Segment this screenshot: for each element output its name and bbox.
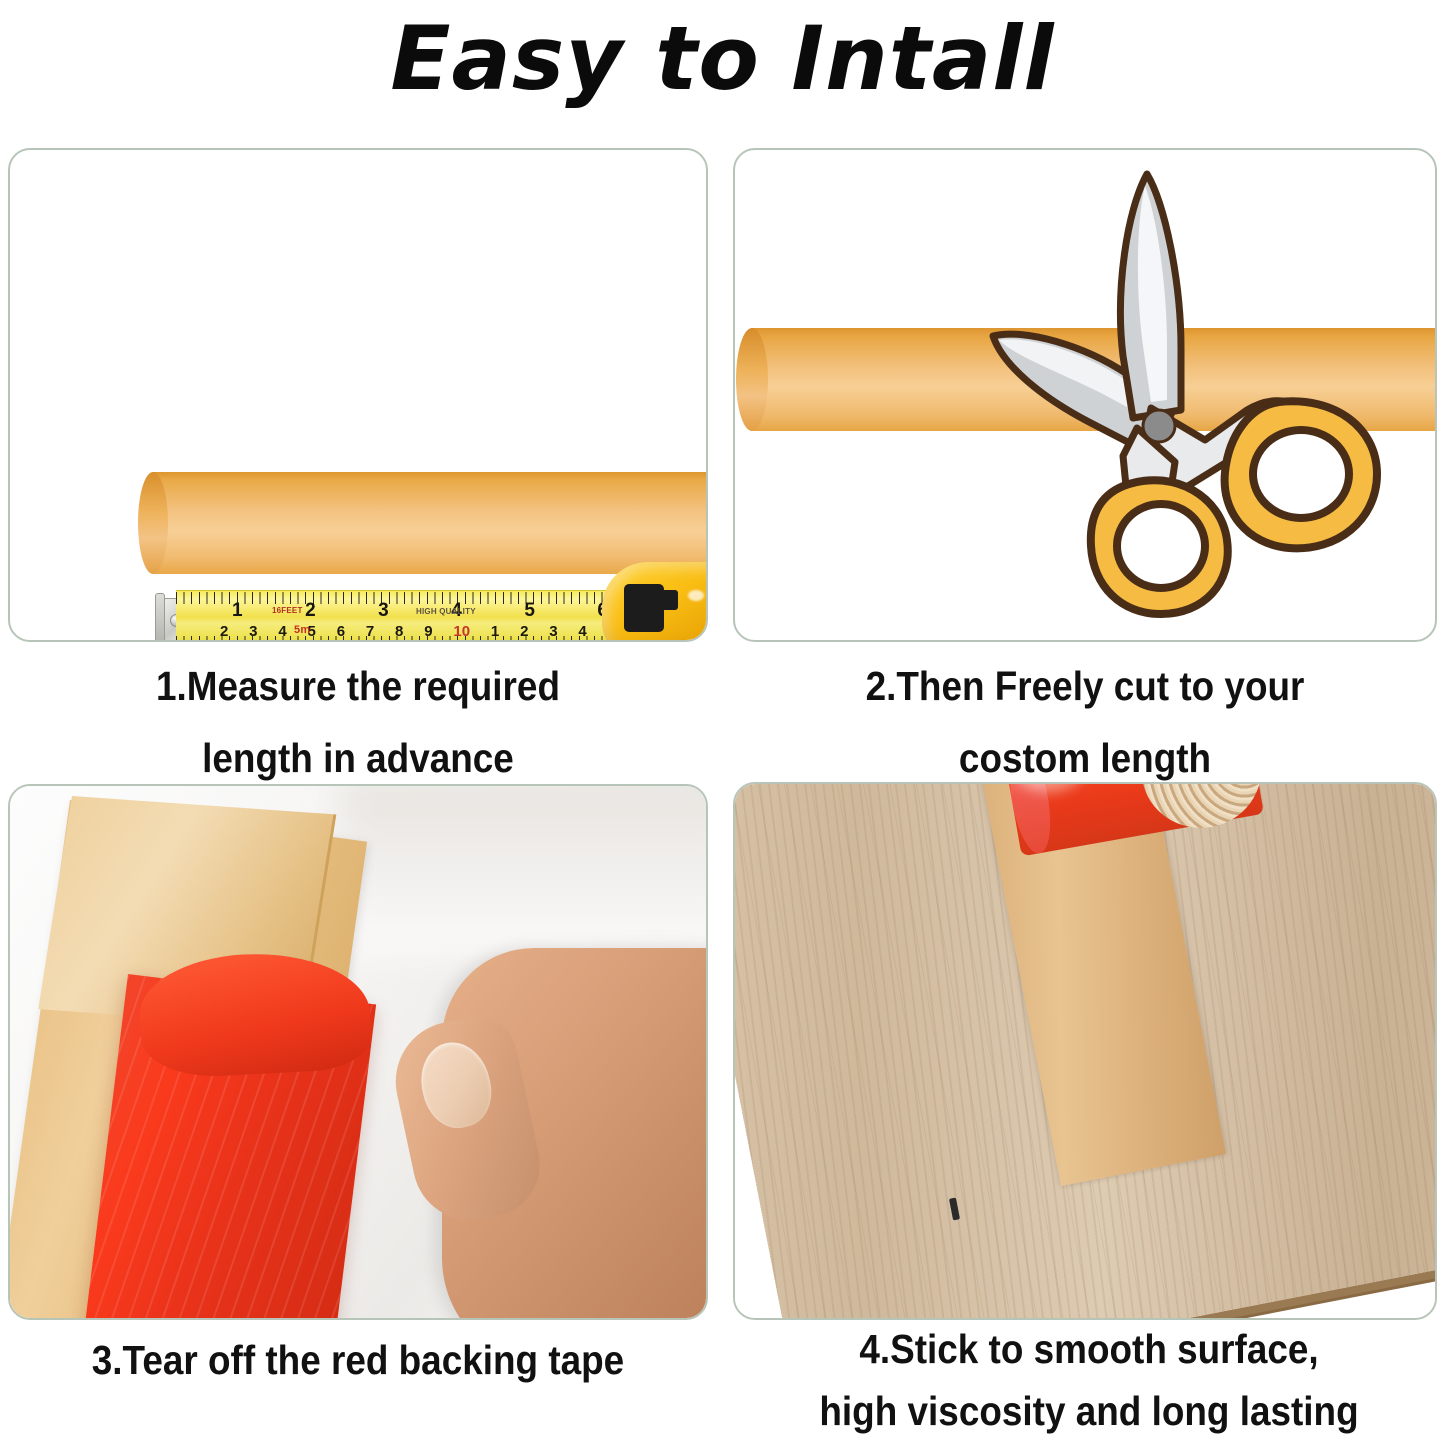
step-4-caption: 4.Stick to smooth surface, high viscosit… [769, 1318, 1410, 1442]
blade-imperial-number: 5 [524, 600, 535, 622]
blade-metric-number: 7 [366, 623, 374, 640]
blade-imperial-number: 3 [378, 600, 389, 622]
blade-imperial-number: 2 [305, 600, 316, 622]
blade-metric-number: 2 [520, 623, 528, 640]
tape-measure-case [602, 562, 708, 642]
blade-label-feet: 16FEET [272, 606, 303, 615]
blade-imperial-number: 1 [232, 600, 243, 622]
tape-measure-blade: 1 2 3 4 5 6 2 3 4 5 6 7 8 9 10 1 2 3 4 5… [176, 590, 616, 642]
blade-metric-number: 2 [220, 623, 228, 640]
blade-metric-number: 6 [337, 623, 345, 640]
blade-metric-number: 8 [395, 623, 403, 640]
photo-background-blur [340, 784, 708, 956]
blade-metric-number: 3 [549, 623, 557, 640]
step-3-image-panel [8, 784, 708, 1320]
blade-metric-number: 4 [278, 623, 286, 640]
blade-metric-number: 1 [491, 623, 499, 640]
blade-metric-number: 9 [424, 623, 432, 640]
lock-button-icon [624, 584, 664, 632]
step-4-image-panel [733, 782, 1437, 1320]
page-title: Easy to Intall [0, 4, 1445, 114]
step-3-caption: 3.Tear off the red backing tape [36, 1330, 680, 1390]
blade-metric-number: 3 [249, 623, 257, 640]
step-1-caption: 1.Measure the required length in advance [43, 650, 673, 794]
blade-metric-number: 4 [578, 623, 586, 640]
blade-label-metric: 5m [294, 624, 310, 636]
blade-metric-numbers: 2 3 4 5 6 7 8 9 10 1 2 3 4 5 [220, 621, 616, 641]
scissors-icon [875, 160, 1395, 640]
blade-metric-number-decimeter: 10 [453, 623, 470, 640]
step-1-image-panel: 1 2 3 4 5 6 2 3 4 5 6 7 8 9 10 1 2 3 4 5… [8, 148, 708, 642]
step-2-image-panel [733, 148, 1437, 642]
tape-roll-tube [152, 472, 708, 574]
blade-label-quality: HIGH QUALITY [416, 607, 476, 616]
step-2-caption: 2.Then Freely cut to your costom length [768, 650, 1402, 794]
case-highlight [688, 590, 704, 601]
